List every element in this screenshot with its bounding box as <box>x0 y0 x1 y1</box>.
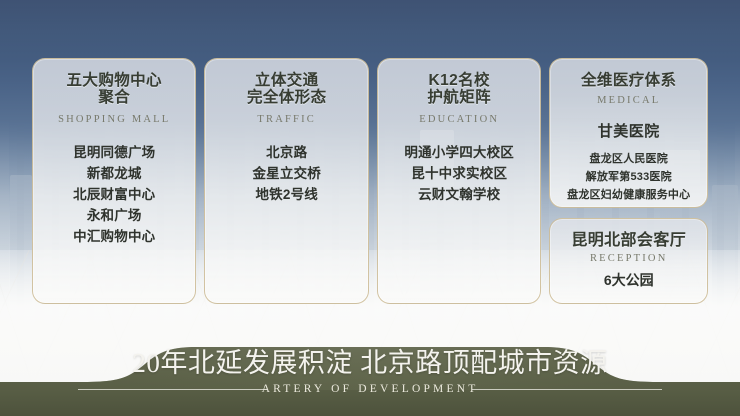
list-item: 明通小学四大校区 <box>384 142 534 163</box>
column-medical-reception: 全维医疗体系 MEDICAL 甘美医院 盘龙区人民医院 解放军第533医院 盘龙… <box>549 58 708 304</box>
card-subtitle-medical: MEDICAL <box>556 95 701 106</box>
card-shopping-mall[interactable]: 五大购物中心 聚合 SHOPPING MALL 昆明同德广场 新都龙城 北辰财富… <box>32 58 196 304</box>
card-education[interactable]: K12名校 护航矩阵 EDUCATION 明通小学四大校区 昆十中求实校区 云财… <box>377 58 541 304</box>
card-item-list-shopping: 昆明同德广场 新都龙城 北辰财富中心 永和广场 中汇购物中心 <box>39 142 189 247</box>
column-education: K12名校 护航矩阵 EDUCATION 明通小学四大校区 昆十中求实校区 云财… <box>377 58 541 304</box>
card-title-shopping: 五大购物中心 聚合 <box>39 72 189 106</box>
card-item-list-medical: 盘龙区人民医院 解放军第533医院 盘龙区妇幼健康服务中心 <box>556 150 701 204</box>
card-title-line1: 昆明北部会客厅 <box>556 232 701 249</box>
list-item: 金星立交桥 <box>211 163 361 184</box>
card-medical[interactable]: 全维医疗体系 MEDICAL 甘美医院 盘龙区人民医院 解放军第533医院 盘龙… <box>549 58 708 208</box>
list-item: 新都龙城 <box>39 163 189 184</box>
card-item-list-education: 明通小学四大校区 昆十中求实校区 云财文翰学校 <box>384 142 534 205</box>
column-shopping: 五大购物中心 聚合 SHOPPING MALL 昆明同德广场 新都龙城 北辰财富… <box>32 58 196 304</box>
list-item: 中汇购物中心 <box>39 226 189 247</box>
list-item: 云财文翰学校 <box>384 184 534 205</box>
list-item: 盘龙区妇幼健康服务中心 <box>556 186 701 204</box>
list-item: 解放军第533医院 <box>556 168 701 186</box>
card-traffic[interactable]: 立体交通 完全体形态 TRAFFIC 北京路 金星立交桥 地铁2号线 <box>204 58 368 304</box>
card-subtitle-shopping: SHOPPING MALL <box>39 114 189 125</box>
column-traffic: 立体交通 完全体形态 TRAFFIC 北京路 金星立交桥 地铁2号线 <box>204 58 368 304</box>
list-item: 昆十中求实校区 <box>384 163 534 184</box>
card-title-line2: 完全体形态 <box>211 89 361 106</box>
feature-card-grid: 五大购物中心 聚合 SHOPPING MALL 昆明同德广场 新都龙城 北辰财富… <box>32 58 708 304</box>
card-title-medical: 全维医疗体系 <box>556 72 701 89</box>
list-item: 北辰财富中心 <box>39 184 189 205</box>
card-item-list-traffic: 北京路 金星立交桥 地铁2号线 <box>211 142 361 205</box>
card-subtitle-education: EDUCATION <box>384 114 534 125</box>
card-title-line1: 全维医疗体系 <box>556 72 701 89</box>
card-title-traffic: 立体交通 完全体形态 <box>211 72 361 106</box>
banner-shape <box>0 330 740 416</box>
card-title-education: K12名校 护航矩阵 <box>384 72 534 106</box>
card-title-line2: 护航矩阵 <box>384 89 534 106</box>
bottom-banner: 20年北延发展积淀 北京路顶配城市资源 ARTERY OF DEVELOPMEN… <box>0 330 740 416</box>
list-item: 盘龙区人民医院 <box>556 150 701 168</box>
card-title-line1: 立体交通 <box>211 72 361 89</box>
list-item: 地铁2号线 <box>211 184 361 205</box>
list-item: 永和广场 <box>39 205 189 226</box>
card-lead-medical: 甘美医院 <box>556 120 701 141</box>
card-subtitle-traffic: TRAFFIC <box>211 114 361 125</box>
card-item-list-reception: 6大公园 <box>556 270 701 290</box>
list-item: 6大公园 <box>556 270 701 290</box>
card-title-line1: 五大购物中心 <box>39 72 189 89</box>
card-title-line1: K12名校 <box>384 72 534 89</box>
top-highlight <box>0 0 740 60</box>
card-subtitle-reception: RECEPTION <box>556 253 701 264</box>
card-reception[interactable]: 昆明北部会客厅 RECEPTION 6大公园 <box>549 218 708 304</box>
poster-canvas: 五大购物中心 聚合 SHOPPING MALL 昆明同德广场 新都龙城 北辰财富… <box>0 0 740 416</box>
list-item: 昆明同德广场 <box>39 142 189 163</box>
card-title-reception: 昆明北部会客厅 <box>556 232 701 249</box>
card-title-line2: 聚合 <box>39 89 189 106</box>
list-item: 北京路 <box>211 142 361 163</box>
